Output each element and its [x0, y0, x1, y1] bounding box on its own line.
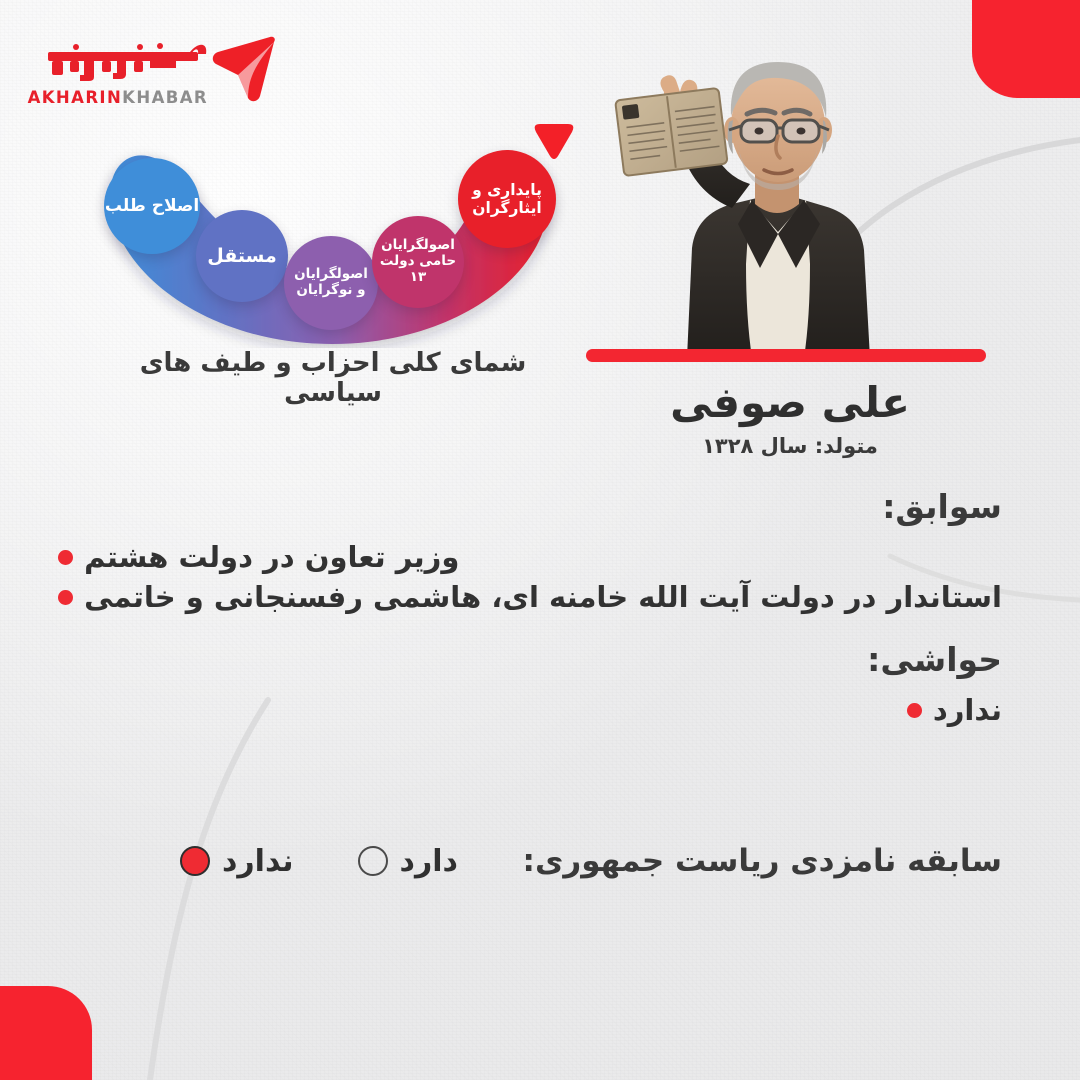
notes-item-text: ندارد	[933, 693, 1002, 727]
spectrum-bubble-4-line2: حامی دولت ۱۳	[372, 254, 464, 286]
spectrum-bubble-3-line1: اصولگرایان	[294, 267, 368, 283]
corner-accent-top-right	[972, 0, 1080, 98]
brand-latin-wordmark: AKHARINKHABAR	[28, 88, 208, 107]
presidency-candidacy-options: دارد ندارد	[180, 844, 458, 879]
spectrum-bubble-paydari[interactable]: پایداری و ایثارگران	[458, 150, 556, 248]
photo-divider-rule	[586, 349, 986, 362]
play-arrow-icon	[208, 36, 278, 102]
record-heading: سوابق:	[882, 487, 1002, 526]
candidate-photo	[592, 18, 932, 358]
presidency-candidacy-label: سابقه نامزدی ریاست جمهوری:	[523, 843, 1002, 879]
spectrum-bubble-5-line2: ایثارگران	[472, 199, 542, 217]
brand-logo[interactable]: AKHARINKHABAR	[52, 34, 272, 118]
bullet-dot-icon	[58, 590, 73, 605]
bullet-dot-icon	[907, 703, 922, 718]
brand-persian-wordmark	[40, 38, 210, 84]
list-item: ندارد	[907, 693, 1002, 727]
brand-latin-secondary: KHABAR	[122, 88, 208, 107]
spectrum-bubble-3-line2: و نوگرایان	[294, 283, 368, 299]
spectrum-bubble-independent[interactable]: مستقل	[196, 210, 288, 302]
record-item-text: استاندار در دولت آیت الله خامنه ای، هاشم…	[84, 580, 1002, 614]
candidate-portrait-illustration	[592, 18, 932, 358]
triangle-down-marker-icon	[530, 118, 578, 162]
presidency-option-no[interactable]: ندارد	[180, 844, 294, 879]
presidency-candidacy-row: سابقه نامزدی ریاست جمهوری: دارد ندارد	[180, 838, 1002, 884]
list-item: وزیر تعاون در دولت هشتم	[58, 540, 1002, 574]
presidency-option-no-label: ندارد	[222, 844, 294, 879]
candidate-birth-year: متولد: سال ۱۳۲۸	[560, 434, 1020, 458]
brand-latin-primary: AKHARIN	[28, 88, 123, 107]
radio-button-unselected-icon[interactable]	[358, 846, 388, 876]
candidate-name: علی صوفی	[560, 378, 1020, 427]
spectrum-bubble-4-line1: اصولگرایان	[372, 238, 464, 254]
radio-button-selected-icon[interactable]	[180, 846, 210, 876]
spectrum-caption: شمای کلی احزاب و طیف های سیاسی	[88, 348, 578, 408]
record-list: وزیر تعاون در دولت هشتم استاندار در دولت…	[58, 540, 1002, 620]
notes-heading: حواشی:	[867, 640, 1002, 679]
presidency-option-yes-label: دارد	[400, 844, 458, 879]
spectrum-bubble-principlist-progovernment[interactable]: اصولگرایان حامی دولت ۱۳	[372, 216, 464, 308]
list-item: استاندار در دولت آیت الله خامنه ای، هاشم…	[58, 580, 1002, 614]
corner-accent-bottom-left	[0, 986, 92, 1080]
bullet-dot-icon	[58, 550, 73, 565]
spectrum-bubble-2-line1: مستقل	[207, 245, 277, 267]
political-spectrum-chart: اصلاح طلب مستقل اصولگرایان و نوگرایان اص…	[88, 118, 578, 348]
notes-list: ندارد	[907, 693, 1002, 733]
spectrum-bubble-1-line1: اصلاح طلب	[105, 196, 199, 216]
spectrum-bubble-reformist[interactable]: اصلاح طلب	[104, 158, 200, 254]
spectrum-bubble-5-line1: پایداری و	[472, 181, 542, 199]
record-item-text: وزیر تعاون در دولت هشتم	[84, 540, 459, 574]
spectrum-bubble-principlist-modernist[interactable]: اصولگرایان و نوگرایان	[284, 236, 378, 330]
presidency-option-yes[interactable]: دارد	[358, 844, 458, 879]
infographic-canvas: AKHARINKHABAR اصلاح طل	[0, 0, 1080, 1080]
